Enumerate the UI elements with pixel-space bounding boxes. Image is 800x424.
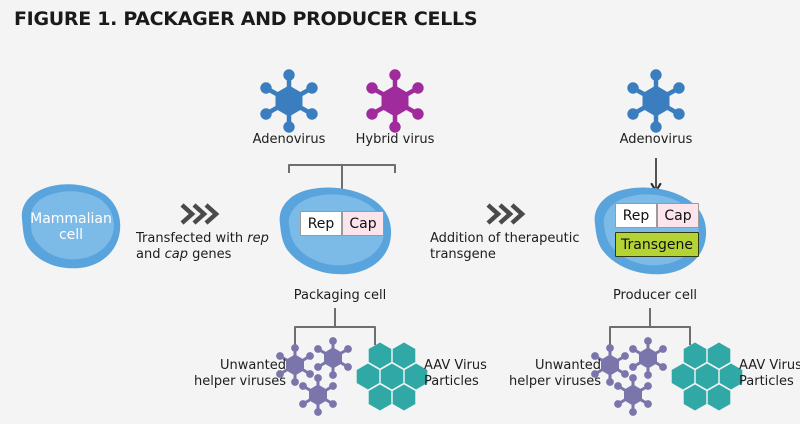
triple-chevron-transgene-icon [488,205,522,223]
adenovirus-left-label: Adenovirus [239,132,339,148]
packaging-helper-label-line1: Unwanted [168,358,286,374]
transfection-text-and: and [136,247,165,262]
aav-honeycomb-left-icon [357,343,428,411]
producer-aav-label-line1: AAV Virus [739,358,800,374]
transfection-step-text: Transfected with rep and cap genes [136,231,271,264]
figure-container: FIGURE 1. PACKAGER AND PRODUCER CELLS [0,0,800,424]
adenovirus-right-label: Adenovirus [606,132,706,148]
producer-gene-rep-box: Rep [615,203,657,228]
transfection-gene-cap: cap [165,247,188,262]
transgene-step-line2: transgene [430,247,580,263]
mammalian-cell-label: Mammalian cell [20,211,122,243]
producer-output-aav-label: AAV Virus Particles [739,358,800,391]
transgene-step-line1: Addition of therapeutic [430,231,580,247]
mammalian-cell-label-line2: cell [20,227,122,243]
mammalian-cell-label-line1: Mammalian [20,211,122,227]
adenovirus-left-icon [261,70,317,132]
producer-cell-icon [595,187,706,274]
bracket-up-icon [289,165,395,190]
transfection-text-prefix: Transfected with [136,231,247,246]
transfection-gene-rep: rep [247,231,269,246]
producer-helper-label-line1: Unwanted [483,358,601,374]
packaging-output-helper-virus-label: Unwanted helper viruses [168,358,286,391]
producer-transgene-box: Transgene [615,232,699,257]
producer-helper-label-line2: helper viruses [483,374,601,390]
transgene-step-text: Addition of therapeutic transgene [430,231,580,264]
hybrid-virus-label: Hybrid virus [345,132,445,148]
transfection-text-suffix: genes [188,247,231,262]
producer-aav-label-line2: Particles [739,374,800,390]
packaging-helper-label-line2: helper viruses [168,374,286,390]
producer-gene-cap-box: Cap [657,203,699,228]
helper-virus-cluster-right-icon [592,338,667,416]
triple-chevron-transfection-icon [182,205,216,223]
aav-honeycomb-right-icon [672,343,743,411]
producer-cell-caption: Producer cell [600,288,710,304]
producer-output-helper-virus-label: Unwanted helper viruses [483,358,601,391]
adenovirus-right-icon [628,70,684,132]
packaging-gene-rep-box: Rep [300,211,342,236]
packaging-cell-caption: Packaging cell [285,288,395,304]
packaging-gene-cap-box: Cap [342,211,384,236]
hybrid-virus-icon [367,70,423,132]
helper-virus-cluster-left-icon [277,338,352,416]
